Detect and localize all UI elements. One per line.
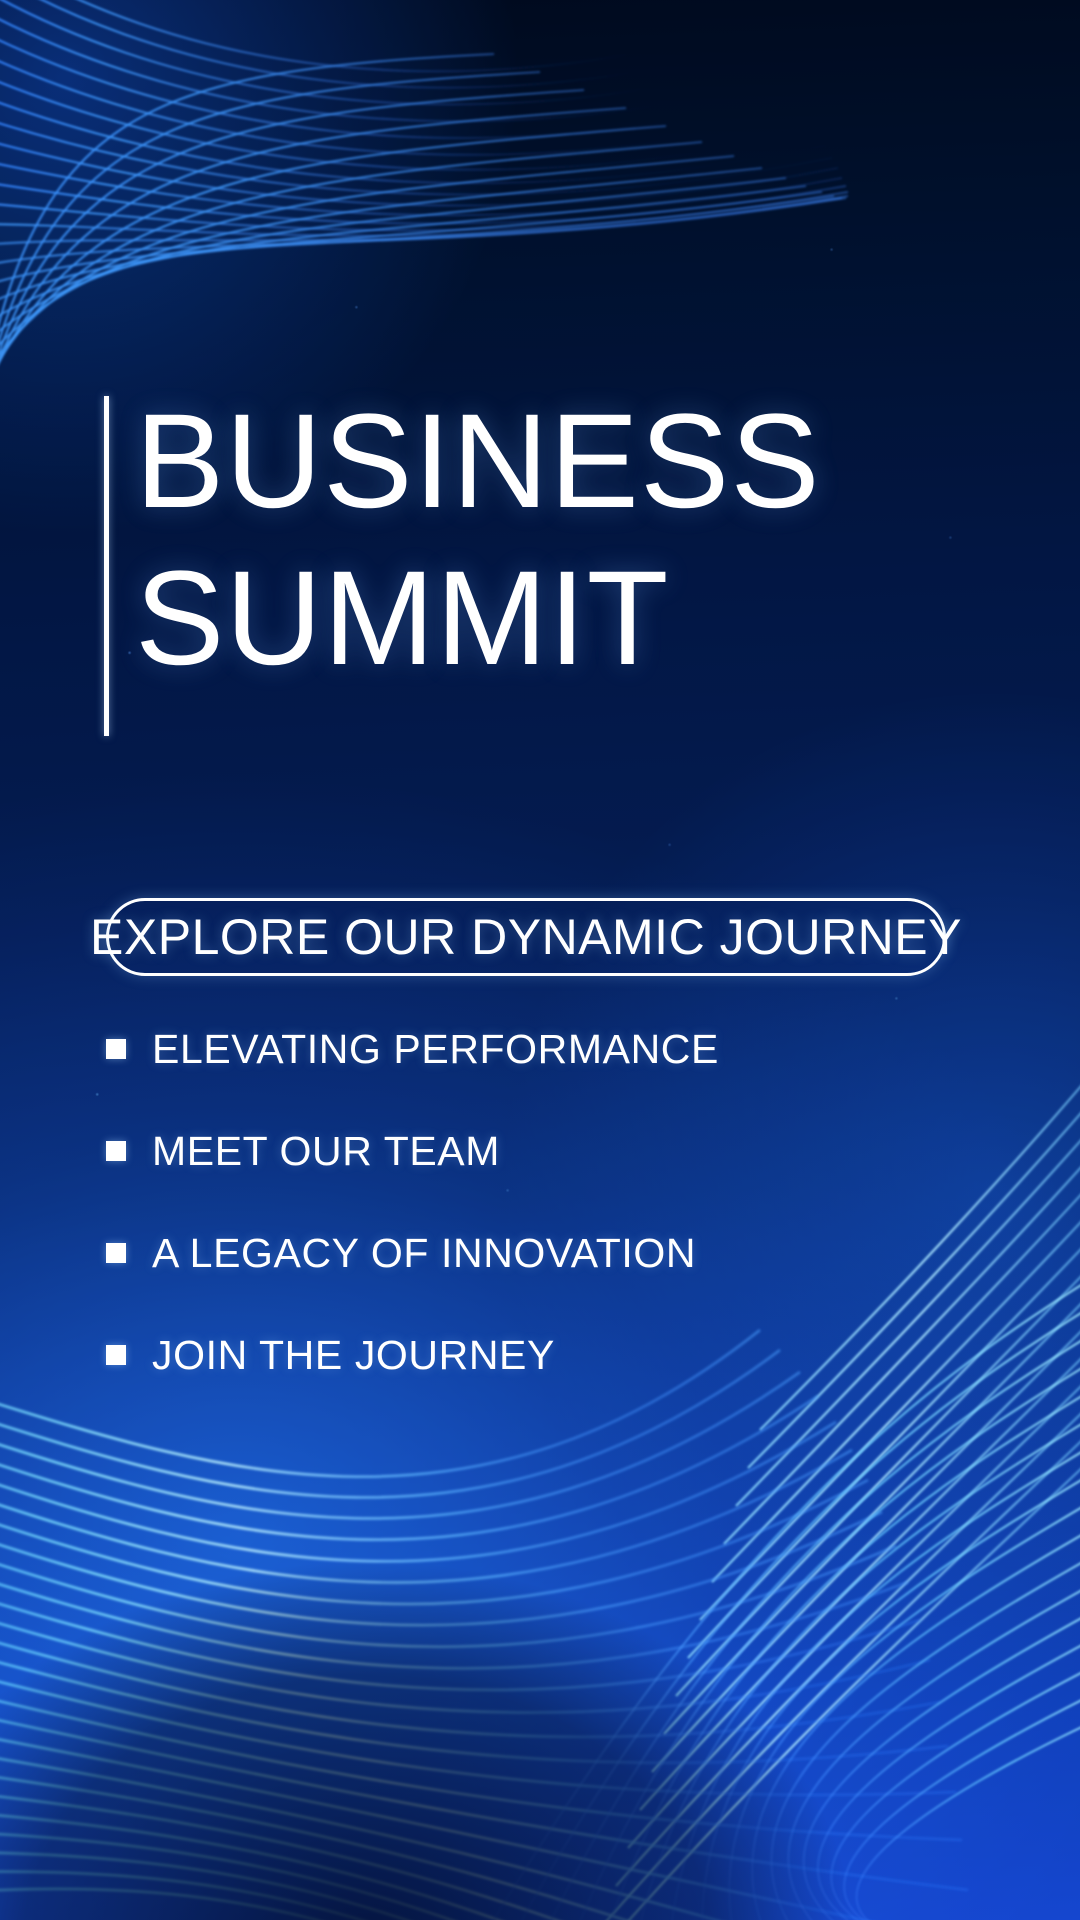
list-item[interactable]: A LEGACY OF INNOVATION [106,1214,966,1292]
title-line-2: SUMMIT [135,553,821,686]
list-item[interactable]: MEET OUR TEAM [106,1112,966,1190]
list-item[interactable]: ELEVATING PERFORMANCE [106,1010,966,1088]
square-bullet-icon [106,1345,126,1365]
list-item-label: MEET OUR TEAM [152,1128,500,1175]
list-item-label: ELEVATING PERFORMANCE [152,1026,719,1073]
title-text-group: BUSINESS SUMMIT [135,396,821,736]
list-item-label: A LEGACY OF INNOVATION [152,1230,696,1277]
square-bullet-icon [106,1039,126,1059]
page-title: BUSINESS SUMMIT [104,396,821,736]
explore-journey-button[interactable]: EXPLORE OUR DYNAMIC JOURNEY [106,898,946,976]
list-item-label: JOIN THE JOURNEY [152,1332,555,1379]
title-line-1: BUSINESS [135,396,821,529]
square-bullet-icon [106,1243,126,1263]
title-accent-rule [104,396,109,736]
poster-content: BUSINESS SUMMIT EXPLORE OUR DYNAMIC JOUR… [0,0,1080,1920]
poster-canvas: BUSINESS SUMMIT EXPLORE OUR DYNAMIC JOUR… [0,0,1080,1920]
square-bullet-icon [106,1141,126,1161]
explore-journey-label: EXPLORE OUR DYNAMIC JOURNEY [90,908,962,966]
feature-list: ELEVATING PERFORMANCE MEET OUR TEAM A LE… [106,1010,966,1418]
list-item[interactable]: JOIN THE JOURNEY [106,1316,966,1394]
